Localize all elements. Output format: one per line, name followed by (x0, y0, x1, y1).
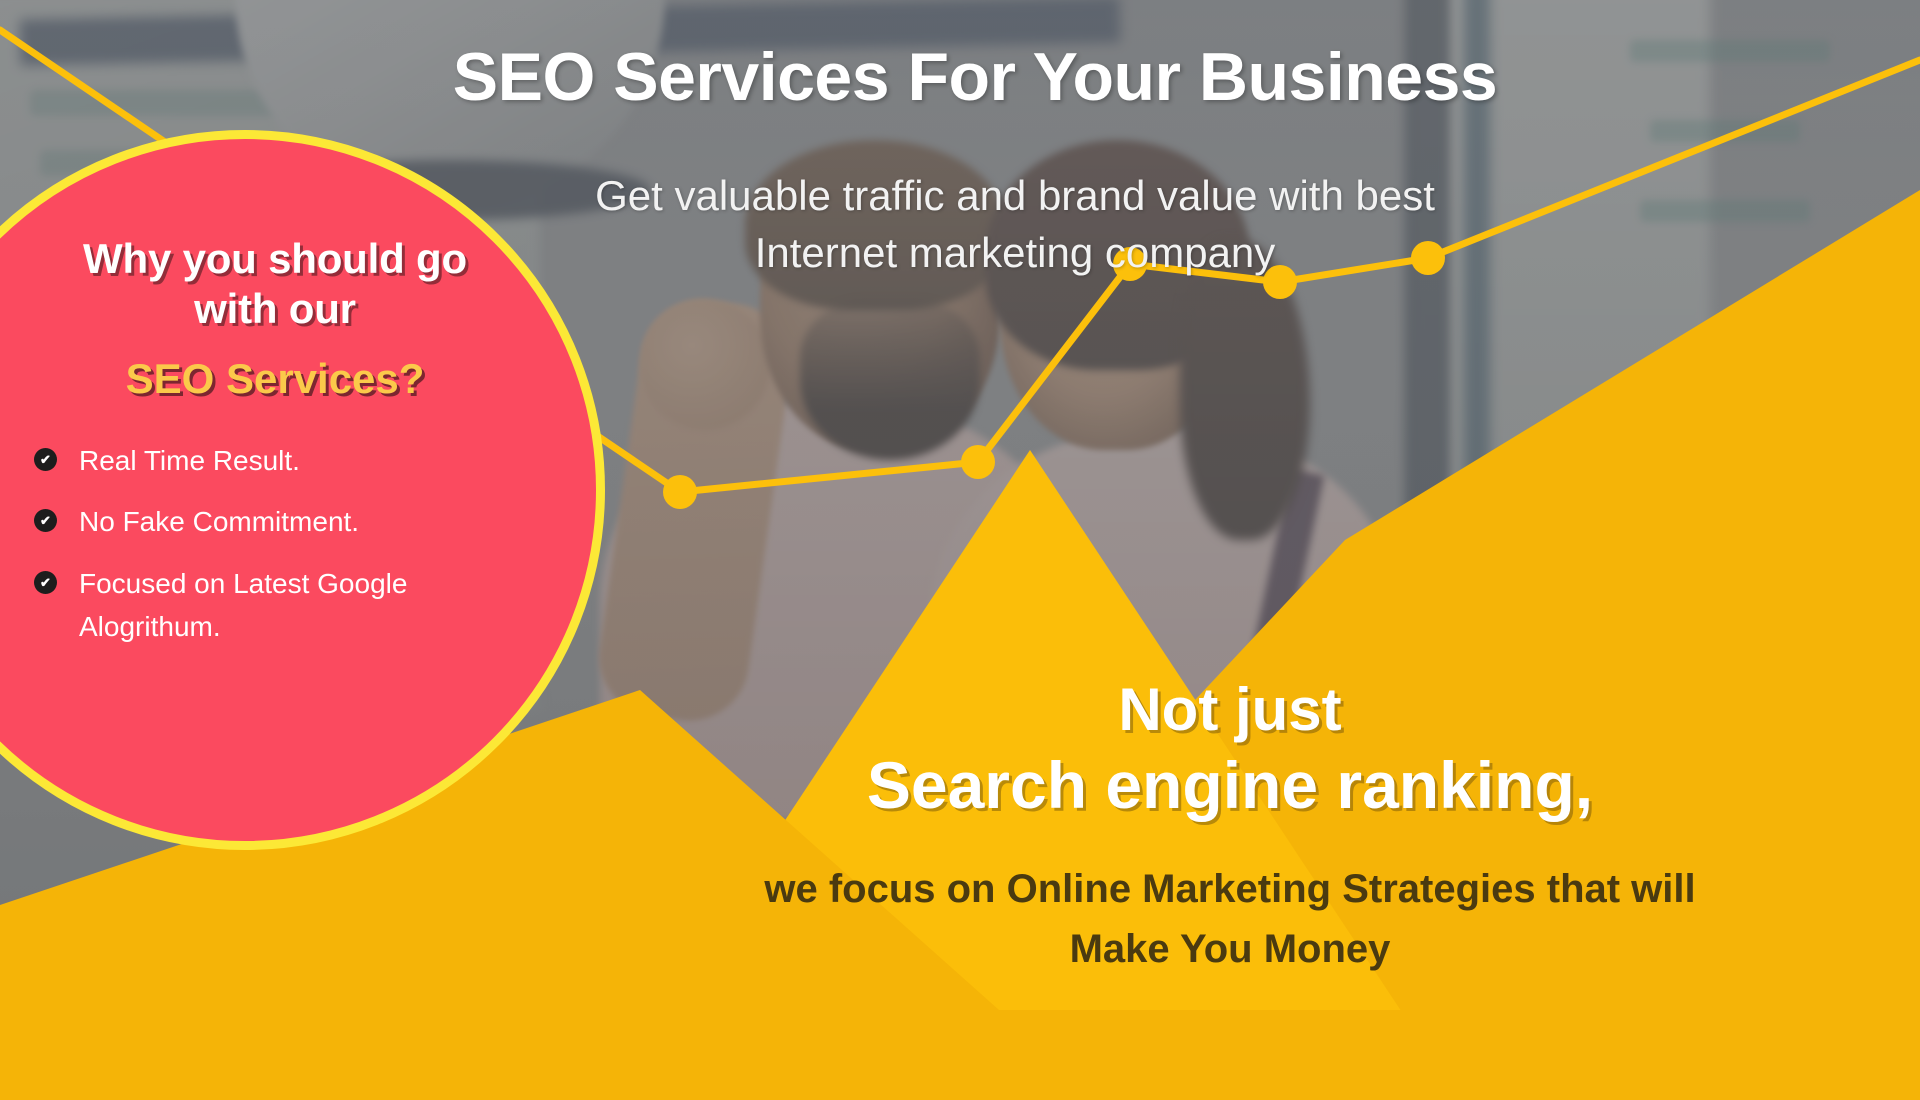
list-item: ✔ Real Time Result. (34, 439, 526, 482)
page-subtitle: Get valuable traffic and brand value wit… (480, 168, 1550, 281)
circle-heading-line2: with our (194, 285, 356, 332)
check-circle-icon: ✔ (34, 509, 57, 532)
benefit-list: ✔ Real Time Result. ✔ No Fake Commitment… (24, 439, 526, 667)
list-item-label: No Fake Commitment. (79, 500, 359, 543)
list-item: ✔ No Fake Commitment. (34, 500, 526, 543)
promo-body-line1: we focus on Online Marketing Strategies … (764, 867, 1695, 911)
mountain-base (0, 1010, 1920, 1100)
list-item-label: Real Time Result. (79, 439, 300, 482)
promo-body-line2: Make You Money (1070, 927, 1391, 971)
promo-block: Not just Search engine ranking, we focus… (640, 675, 1820, 979)
promo-body: we focus on Online Marketing Strategies … (640, 859, 1820, 979)
circle-highlight: SEO Services? (126, 355, 425, 403)
promo-line-1: Not just (640, 675, 1820, 744)
list-item: ✔ Focused on Latest Google Alogrithum. (34, 562, 526, 649)
promo-line-2: Search engine ranking, (640, 746, 1820, 825)
check-circle-icon: ✔ (34, 448, 57, 471)
list-item-label: Focused on Latest Google Alogrithum. (79, 562, 459, 649)
circle-heading-line1: Why you should go (83, 235, 467, 282)
check-circle-icon: ✔ (34, 571, 57, 594)
seo-banner: Why you should go with our SEO Services?… (0, 0, 1920, 1100)
subtitle-line1: Get valuable traffic and brand value wit… (595, 172, 1435, 219)
page-title: SEO Services For Your Business (380, 38, 1570, 116)
subtitle-line2: Internet marketing company (755, 229, 1276, 276)
circle-heading: Why you should go with our (83, 234, 467, 333)
